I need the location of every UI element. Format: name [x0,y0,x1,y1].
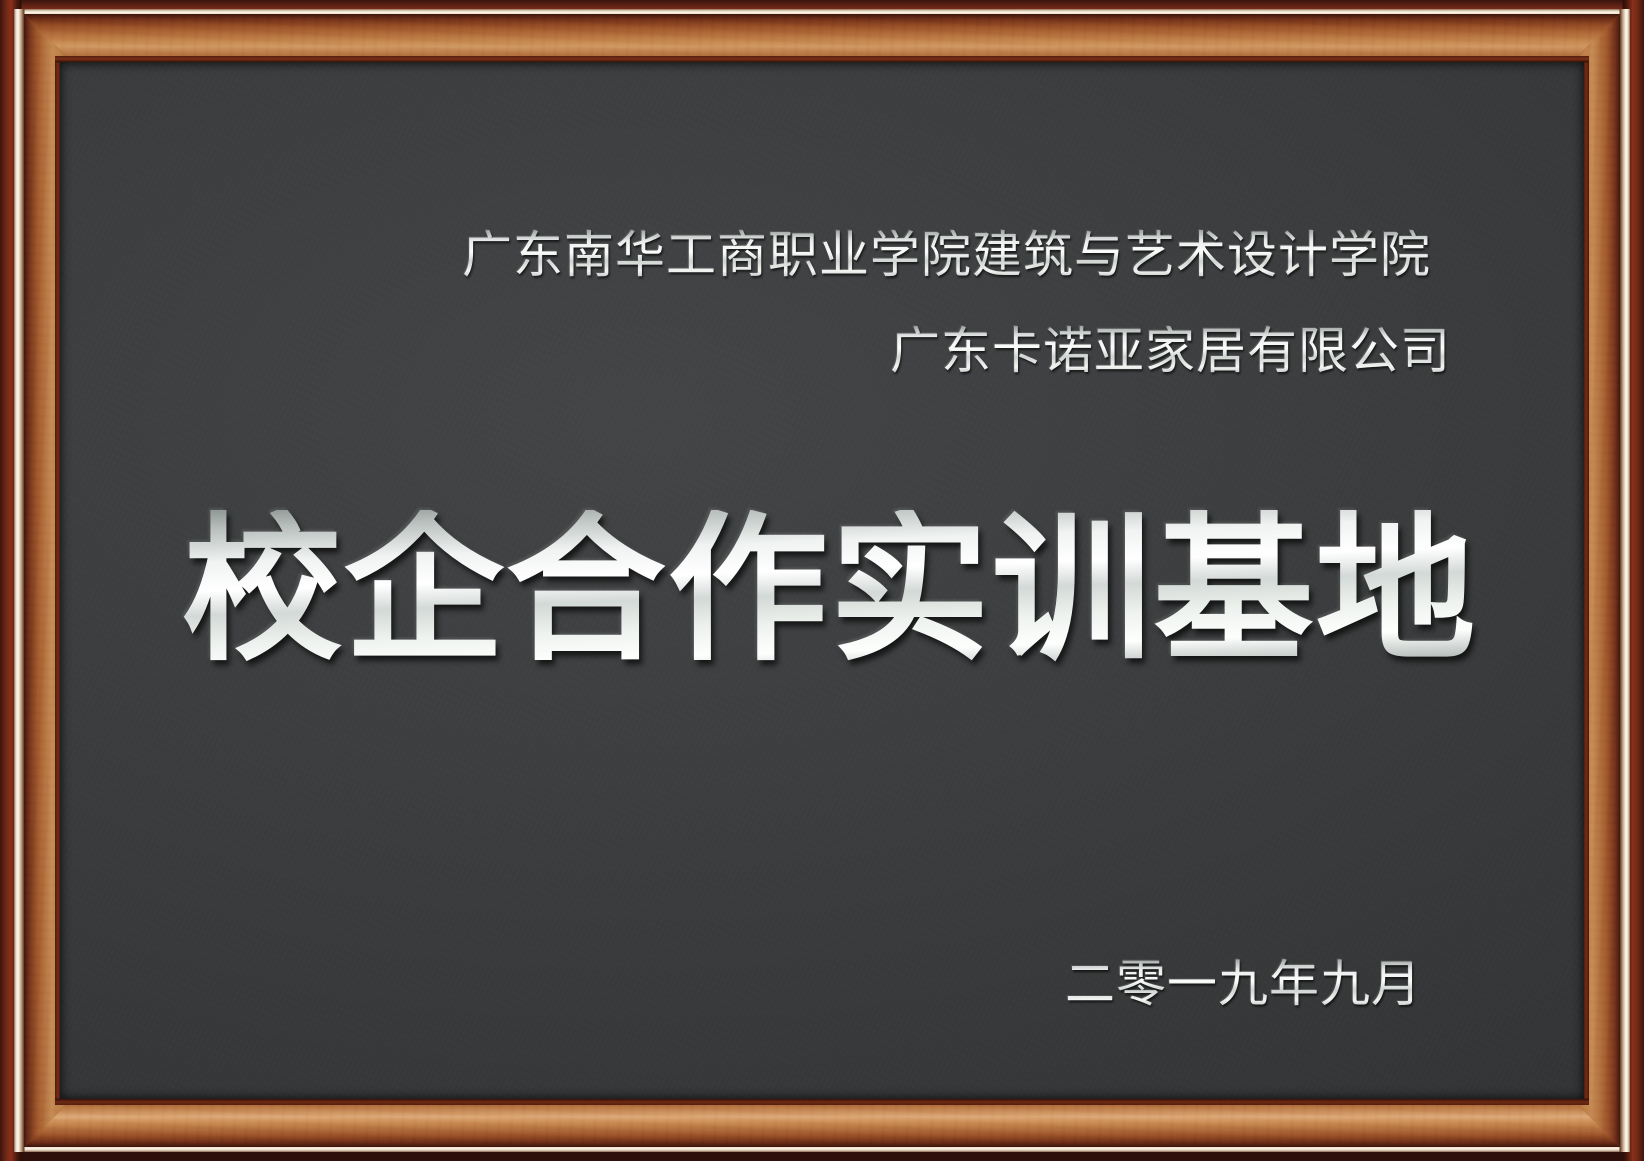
plaque-title: 校企合作实训基地 [182,510,1477,670]
plaque-text-layer: 广东南华工商职业学院建筑与艺术设计学院 广东卡诺亚家居有限公司 校企合作实训基地… [60,62,1584,1099]
plaque-panel: 广东南华工商职业学院建筑与艺术设计学院 广东卡诺亚家居有限公司 校企合作实训基地… [60,62,1584,1099]
organization-name: 广东南华工商职业学院建筑与艺术设计学院 [462,230,1431,280]
plaque-date: 二零一九年九月 [1065,959,1422,1009]
company-name: 广东卡诺亚家居有限公司 [890,326,1451,376]
plaque-stage: 广东南华工商职业学院建筑与艺术设计学院 广东卡诺亚家居有限公司 校企合作实训基地… [0,0,1644,1161]
